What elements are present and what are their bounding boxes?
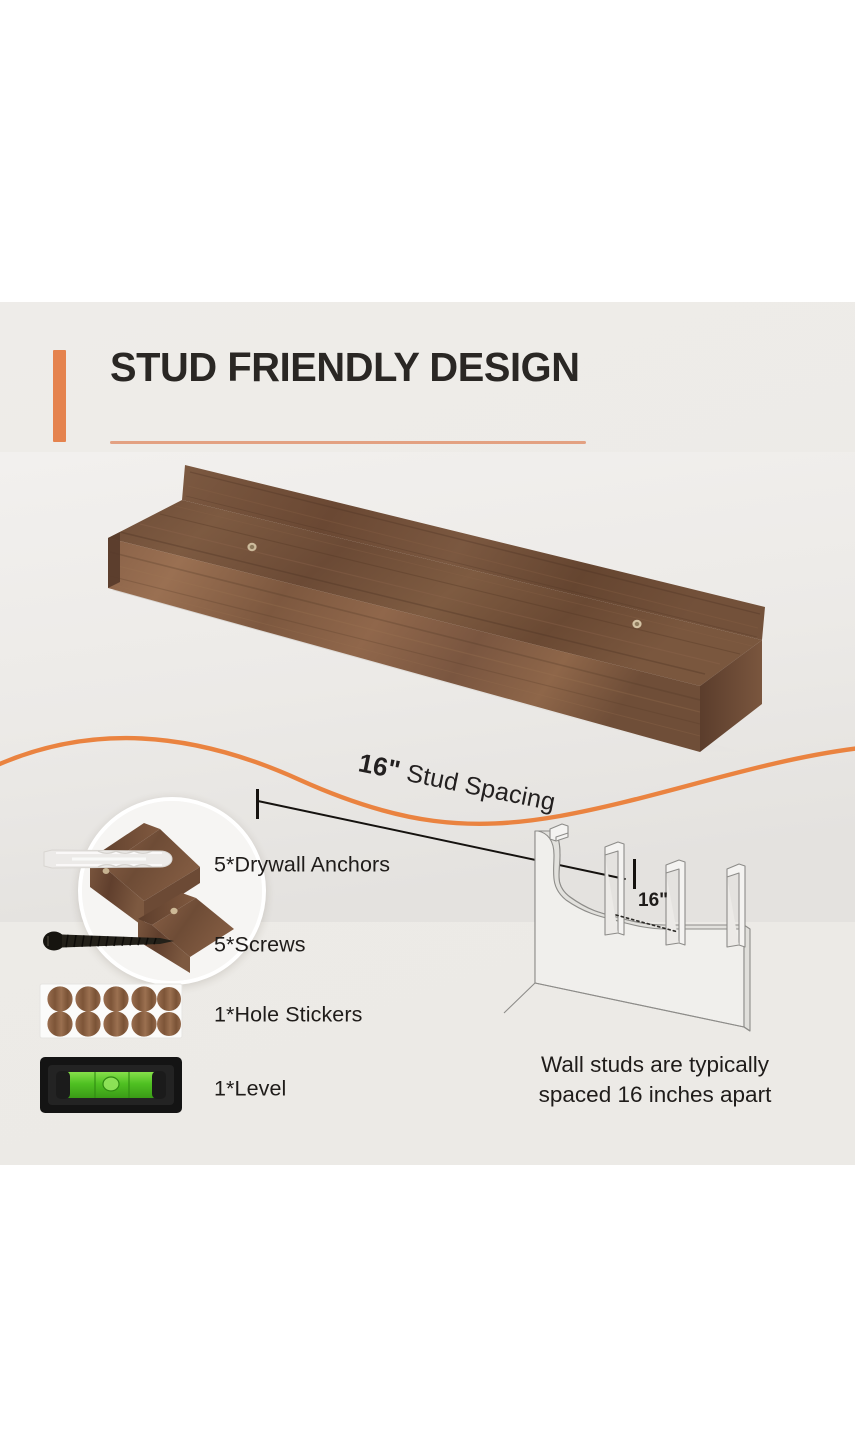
caption-line-2: spaced 16 inches apart xyxy=(455,1080,855,1110)
list-item-label: 5*Screws xyxy=(214,933,306,958)
header: STUD FRIENDLY DESIGN enjoy this safe and… xyxy=(0,344,855,454)
list-item-label: 1*Level xyxy=(214,1077,286,1102)
wall-stud-illustration: 16" xyxy=(492,807,832,1057)
page-canvas: STUD FRIENDLY DESIGN enjoy this safe and… xyxy=(0,0,855,1440)
infographic-panel: STUD FRIENDLY DESIGN enjoy this safe and… xyxy=(0,302,855,1165)
list-item: 5*Drywall Anchors xyxy=(0,830,440,900)
list-item: 1*Hole Stickers xyxy=(0,980,440,1050)
screw-icon xyxy=(38,910,186,972)
title-underline xyxy=(110,441,586,444)
list-item: 1*Level xyxy=(0,1054,440,1124)
hole-stickers-icon xyxy=(38,980,186,1042)
parts-list: 5*Drywall Anchors xyxy=(0,822,470,1132)
screw-head-left xyxy=(247,543,256,551)
stud-spacing-measure-text: 16" xyxy=(638,890,668,911)
drywall-anchor-icon xyxy=(38,830,186,892)
screw-head-right xyxy=(632,620,641,628)
accent-bar xyxy=(53,350,66,442)
list-item-label: 5*Drywall Anchors xyxy=(214,853,390,878)
wall-stud-diagram: 16" xyxy=(492,807,832,1057)
bubble-level-icon xyxy=(38,1054,186,1116)
list-item-label: 1*Hole Stickers xyxy=(214,1003,362,1028)
dimension-tick-left xyxy=(256,789,259,819)
wall-stud-caption: Wall studs are typically spaced 16 inche… xyxy=(455,1050,855,1110)
list-item: 5*Screws xyxy=(0,910,440,980)
caption-line-1: Wall studs are typically xyxy=(455,1050,855,1080)
page-title: STUD FRIENDLY DESIGN xyxy=(110,344,580,391)
